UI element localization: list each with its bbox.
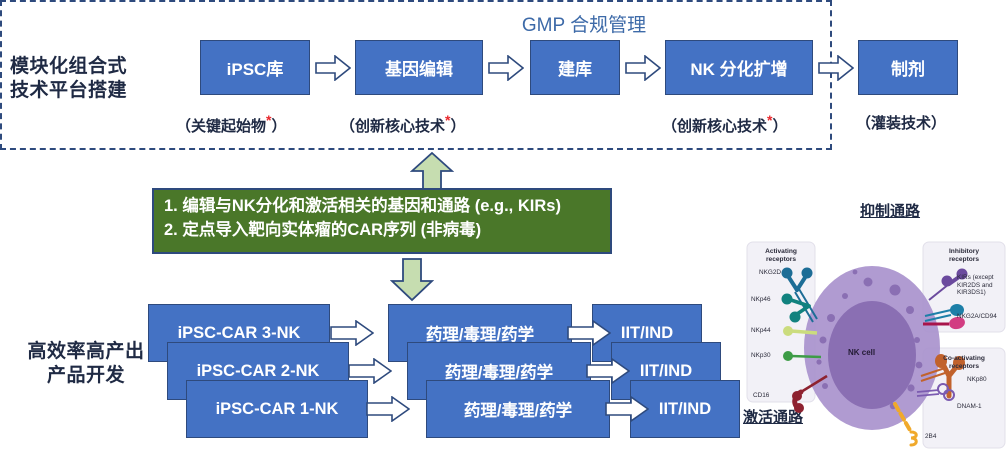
chevron-right-icon-2 [488, 55, 524, 81]
nk-receptor-label-nkg2a: NKG2A/CD94 [957, 313, 997, 321]
product-label: iPSC-CAR 3-NK [178, 324, 301, 343]
gene-editing-note-box: 1. 编辑与NK分化和激活相关的基因和通路 (e.g., KIRs) 2. 定点… [152, 188, 612, 254]
study-box-1[interactable]: 药理/毒理/药学 [426, 380, 610, 438]
arrow-right-icon-p1-s1 [366, 396, 410, 427]
nk-cell-figure: 抑制通路 激活通路 [735, 200, 1007, 452]
process-caption-ipsc-library: （关键起始物*） [176, 112, 286, 136]
nk-receptor-label-nkp46: NKp46 [751, 296, 771, 304]
nk-receptor-label-nkp44: NKp44 [751, 327, 771, 335]
nk-receptor-label-cd16: CD16 [753, 392, 769, 400]
nk-cell-core-label: NK cell [848, 348, 875, 357]
process-caption-formulation: （灌装技术） [856, 112, 946, 133]
process-box-gene-editing[interactable]: 基因编辑 [355, 40, 483, 95]
note-line-2: 2. 定点导入靶向实体瘤的CAR序列 (非病毒) [164, 219, 600, 243]
caption-text: （关键起始物 [176, 118, 266, 135]
caption-tail: ） [772, 118, 787, 135]
product-label: iPSC-CAR 1-NK [216, 400, 339, 419]
study-label: 药理/毒理/药学 [464, 397, 572, 421]
nk-receptor-label-nkp80: NKp80 [967, 376, 987, 384]
caption-text: （创新核心技术 [340, 118, 445, 135]
caption-text: （灌装技术 [856, 115, 931, 132]
chevron-right-icon-3 [625, 55, 661, 81]
chevron-right-icon-1 [315, 55, 351, 81]
nk-receptor-label-nkg2d: NKG2D [759, 269, 781, 277]
outcome-label: IIT/IND [640, 362, 692, 381]
process-box-label: 制剂 [891, 55, 925, 80]
nk-panel-title-activating: Activating receptors [749, 248, 813, 264]
nk-receptor-label-dnam1: DNAM-1 [957, 403, 982, 411]
nk-panel-title-coactivating: Co-activating receptors [925, 355, 1003, 371]
process-box-label: iPSC库 [227, 55, 284, 80]
arrow-right-icon-s1-o1 [605, 396, 649, 427]
section-label-product: 高效率高产出 产品开发 [6, 340, 166, 388]
product-box-ipsc-car1[interactable]: iPSC-CAR 1-NK [186, 380, 368, 438]
process-box-nk-differentiation[interactable]: NK 分化扩增 [665, 40, 813, 95]
process-box-label: 建库 [558, 55, 592, 80]
caption-tail: ） [450, 118, 465, 135]
nk-cell-illustration [735, 200, 1007, 452]
gmp-title: GMP 合规管理 [168, 10, 1000, 37]
process-box-label: NK 分化扩增 [690, 55, 787, 80]
product-label: iPSC-CAR 2-NK [197, 362, 320, 381]
caption-tail: ） [931, 115, 946, 132]
process-caption-gene-editing: （创新核心技术*） [340, 112, 465, 136]
process-box-label: 基因编辑 [385, 55, 453, 80]
nk-receptor-label-nkp30: NKp30 [751, 352, 771, 360]
nk-receptor-label-kirs: KIRs (except KIR2DS and KIR3DS1) [957, 274, 1005, 297]
process-box-library-build[interactable]: 建库 [530, 40, 620, 95]
process-caption-nk-differentiation: （创新核心技术*） [662, 112, 787, 136]
nk-receptor-label-2b4: 2B4 [925, 433, 936, 441]
section-label-platform: 模块化组合式 技术平台搭建 [10, 55, 170, 103]
process-box-ipsc-library[interactable]: iPSC库 [200, 40, 310, 95]
caption-text: （创新核心技术 [662, 118, 767, 135]
outcome-label: IIT/IND [659, 400, 711, 419]
note-line-1: 1. 编辑与NK分化和激活相关的基因和通路 (e.g., KIRs) [164, 195, 600, 219]
nk-panel-title-inhibitory: Inhibitory receptors [925, 248, 1003, 264]
arrow-down-icon [390, 258, 434, 307]
chevron-right-icon-4 [818, 55, 854, 81]
outcome-label: IIT/IND [621, 324, 673, 343]
caption-tail: ） [271, 118, 286, 135]
process-box-formulation[interactable]: 制剂 [858, 40, 958, 95]
